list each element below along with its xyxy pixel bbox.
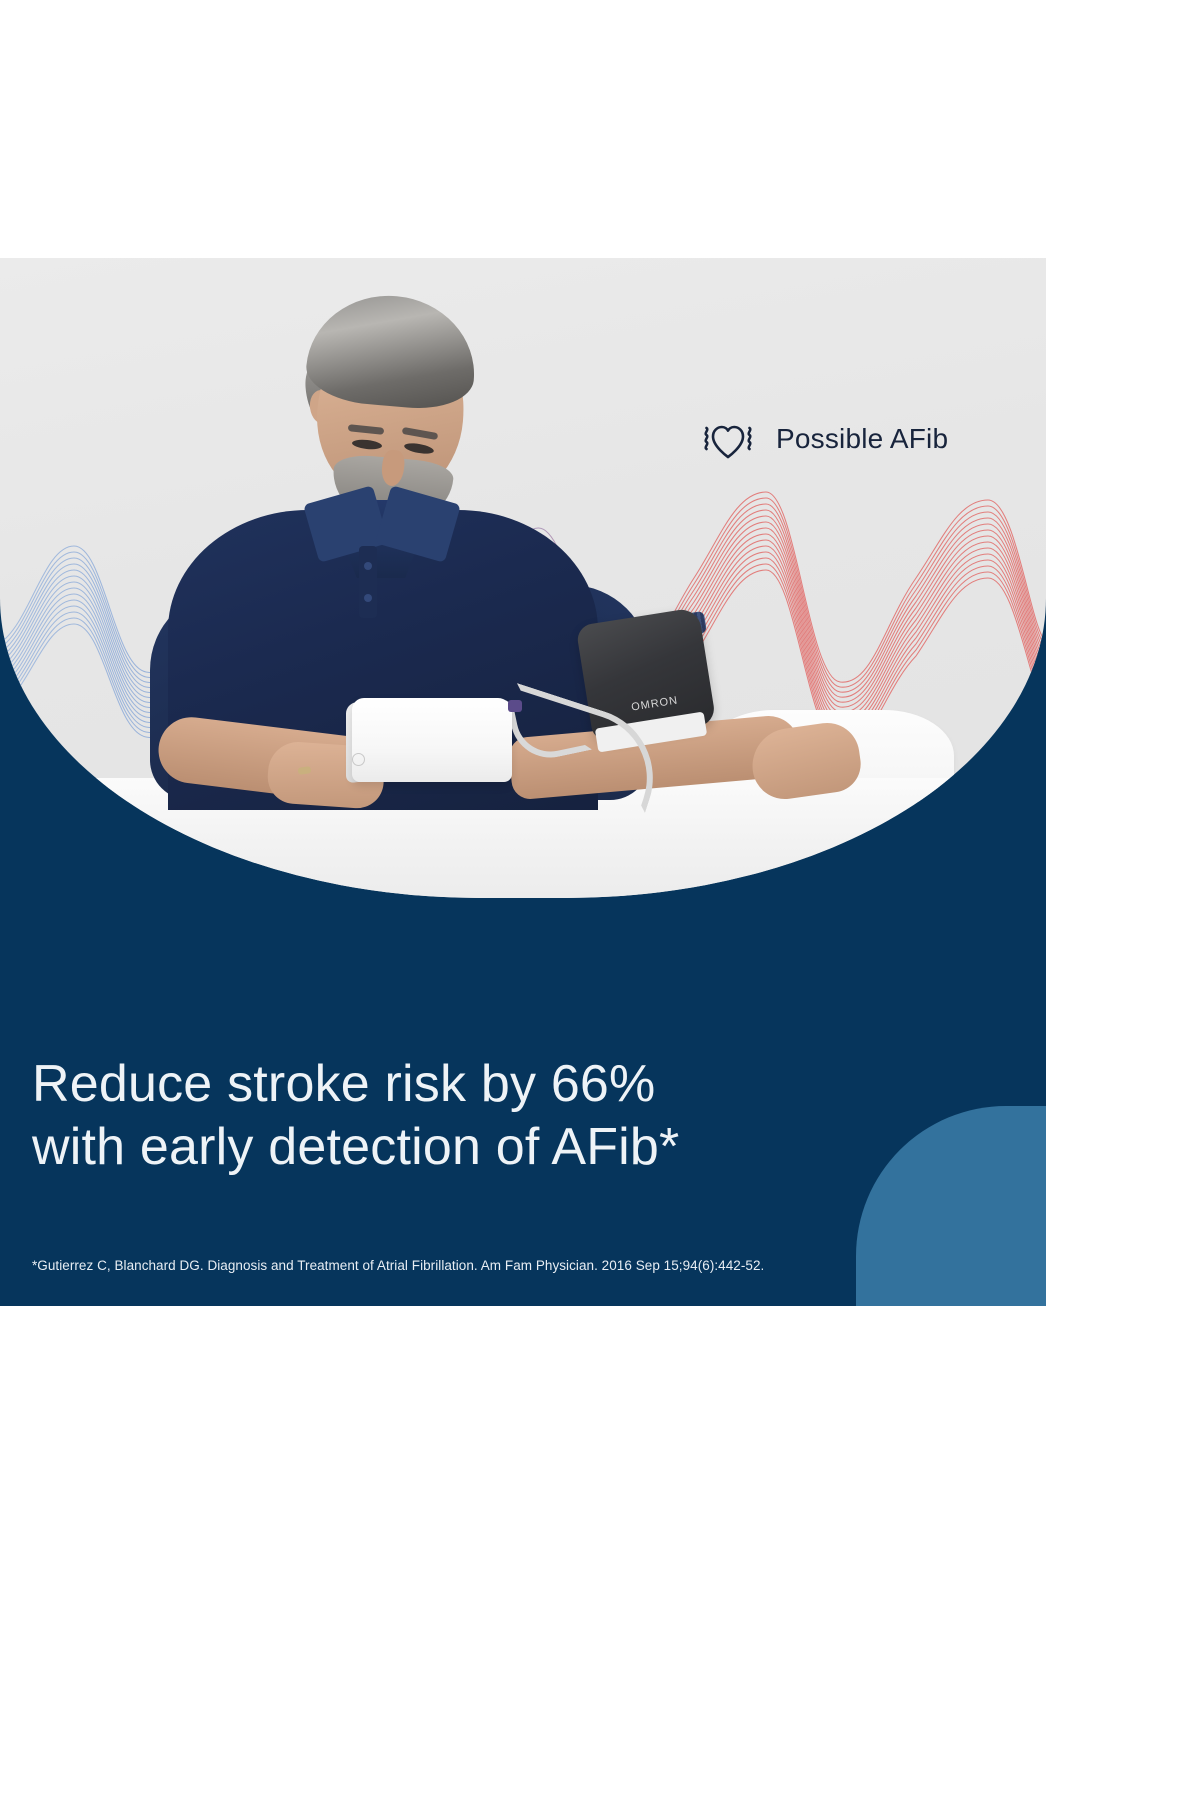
heart-pulse-icon	[700, 416, 756, 462]
hair	[304, 289, 481, 413]
hero-photo: OMRON Possible AFib	[0, 258, 1046, 898]
afib-badge: Possible AFib	[700, 416, 948, 462]
headline-line-1: Reduce stroke risk by 66%	[32, 1055, 656, 1113]
afib-label: Possible AFib	[776, 423, 948, 455]
headline-line-2: with early detection of AFib*	[32, 1116, 892, 1179]
footnote-citation: *Gutierrez C, Blanchard DG. Diagnosis an…	[32, 1258, 932, 1273]
ad-canvas: OMRON Possible AFib	[0, 258, 1046, 1306]
shirt-placket	[359, 546, 377, 618]
tube-connector	[508, 700, 522, 712]
ad-page: OMRON Possible AFib	[0, 0, 1200, 1800]
bp-monitor-start-button[interactable]	[352, 753, 365, 766]
headline: Reduce stroke risk by 66% with early det…	[32, 1053, 892, 1180]
bp-monitor	[352, 698, 512, 782]
shirt-button-bottom	[364, 594, 372, 602]
shirt-button-top	[364, 562, 372, 570]
